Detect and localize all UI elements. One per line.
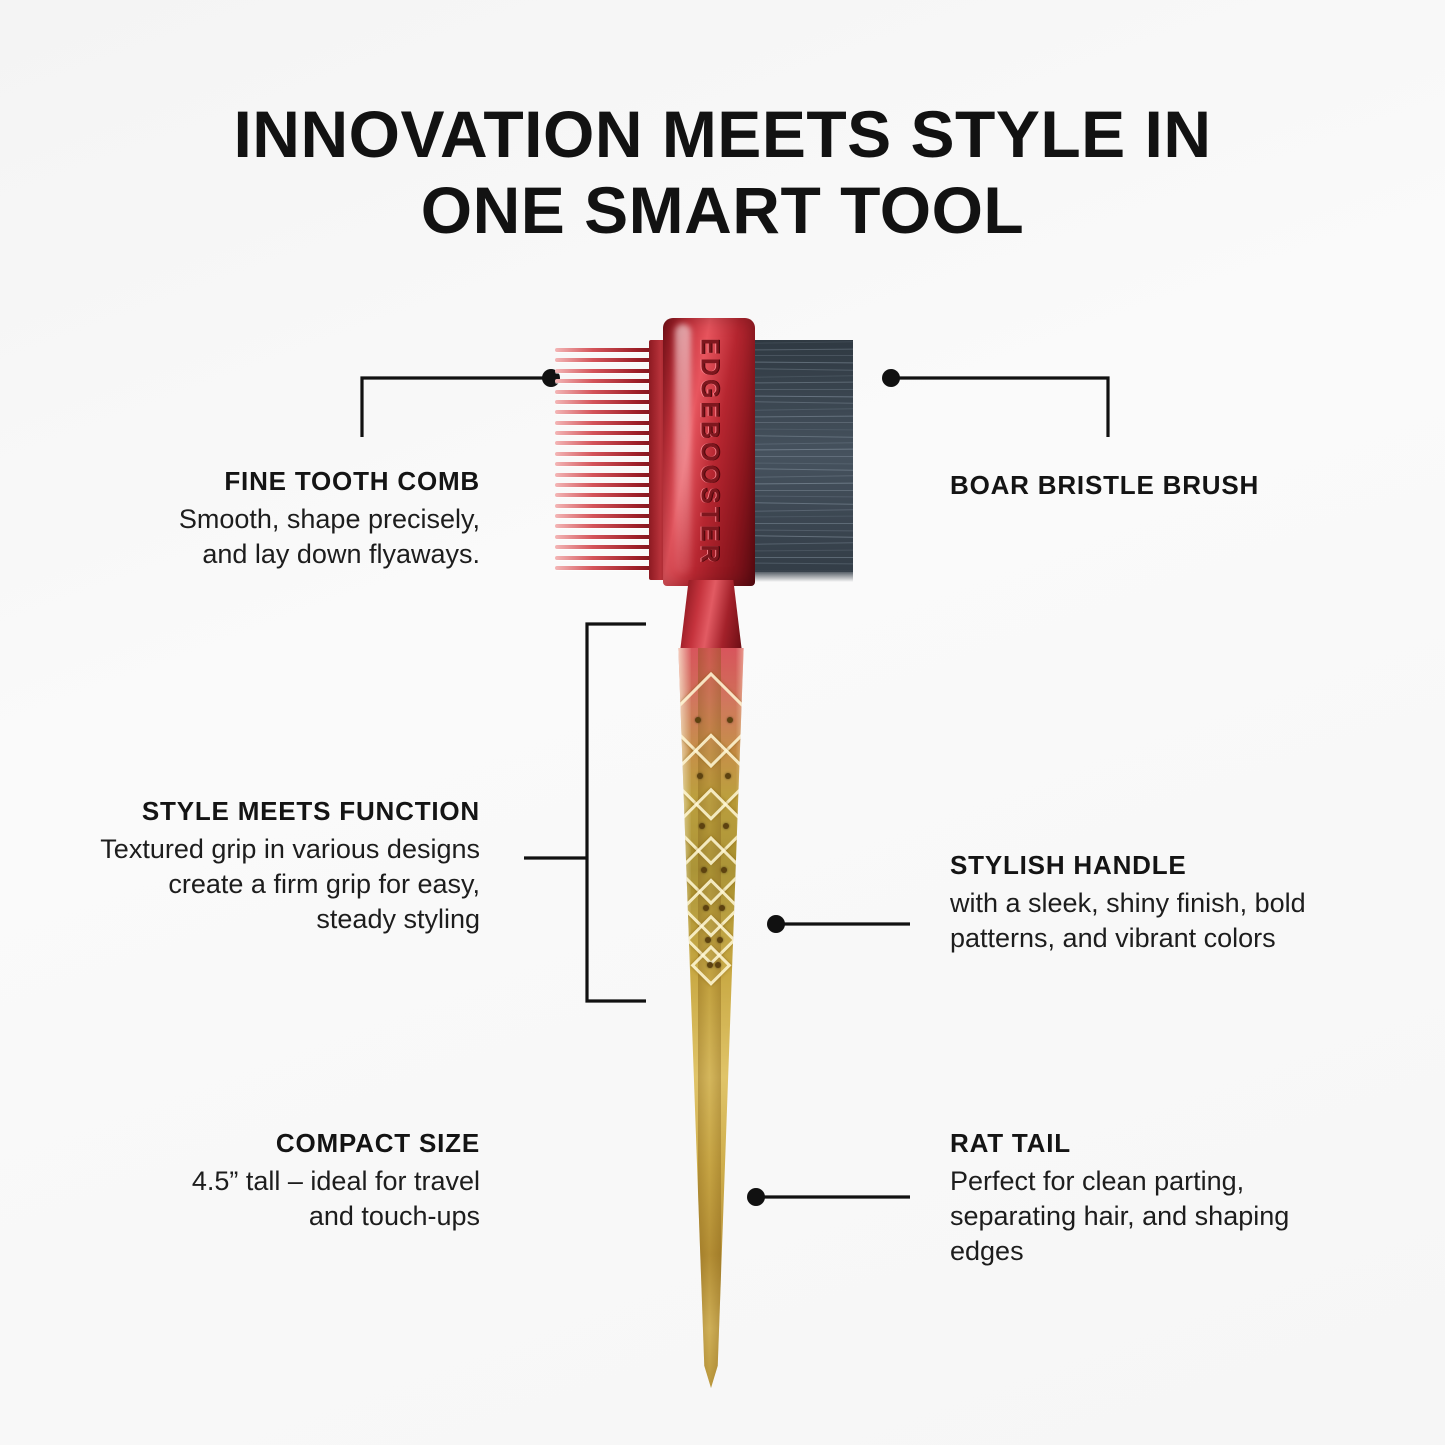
bristle-strand: [755, 449, 853, 451]
bristle-strand: [755, 549, 853, 551]
bristle-strand: [755, 375, 853, 378]
leader-boar-bristle-brush: [882, 369, 1108, 437]
bristle-strand: [755, 355, 853, 356]
bristle-strand: [755, 469, 853, 472]
bristle-strand: [755, 496, 853, 498]
comb-tooth: [555, 483, 663, 487]
bristle-strand: [755, 475, 853, 478]
handle-pin-hole: [697, 773, 703, 779]
comb-tooth: [555, 566, 663, 570]
handle-and-rat-tail: [663, 648, 759, 1388]
bristle-strand: [755, 563, 853, 565]
callout-rat-tail: RAT TAIL Perfect for clean parting, sepa…: [950, 1128, 1350, 1269]
bristle-strand: [755, 509, 853, 512]
callout-body-compact-size: 4.5” tall – ideal for travel and touch-u…: [170, 1164, 480, 1234]
comb-tooth: [555, 473, 663, 477]
callout-heading-style-meets-function: STYLE MEETS FUNCTION: [90, 796, 480, 826]
bristle-strand: [755, 482, 853, 484]
comb-tooth: [555, 410, 663, 414]
comb-tooth: [555, 452, 663, 456]
brand-logo-text: EDGEBOOSTER: [695, 338, 724, 565]
bristle-strand: [755, 368, 853, 371]
handle-pin-hole: [695, 717, 701, 723]
bristle-strand: [755, 415, 853, 417]
comb-tooth: [555, 556, 663, 560]
bristle-strand: [755, 516, 853, 518]
callout-body-stylish-handle: with a sleek, shiny finish, bold pattern…: [950, 886, 1350, 956]
product-image-edge-booster-brush: EDGEBOOSTER: [545, 318, 905, 1388]
bristle-strand: [755, 542, 853, 545]
comb-tooth: [555, 462, 663, 466]
bristle-strand: [755, 490, 853, 491]
bristle-strand: [755, 341, 853, 344]
brush-body-red: EDGEBOOSTER: [663, 318, 755, 586]
bristle-strand: [755, 348, 853, 350]
callout-body-style-meets-function: Textured grip in various designs create …: [90, 832, 480, 937]
bristle-strand: [755, 523, 853, 524]
comb-tooth: [555, 390, 663, 394]
comb-tooth: [555, 441, 663, 445]
callout-boar-bristle-brush: BOAR BRISTLE BRUSH: [950, 470, 1350, 506]
callout-stylish-handle: STYLISH HANDLE with a sleek, shiny finis…: [950, 850, 1350, 956]
bristle-strand: [755, 536, 853, 539]
bristle-strand: [755, 408, 853, 411]
callout-heading-fine-tooth-comb: FINE TOOTH COMB: [150, 466, 480, 496]
comb-tooth: [555, 421, 663, 425]
leader-fine-tooth-comb: [362, 369, 560, 437]
comb-tooth: [555, 431, 663, 435]
callout-heading-rat-tail: RAT TAIL: [950, 1128, 1350, 1158]
handle-pin-hole: [703, 905, 709, 911]
comb-tooth: [555, 524, 663, 528]
infographic-page: INNOVATION MEETS STYLE IN ONE SMART TOOL: [0, 0, 1445, 1445]
bristle-strand: [755, 362, 853, 364]
callout-heading-compact-size: COMPACT SIZE: [170, 1128, 480, 1158]
bristle-shadow: [755, 570, 853, 582]
comb-tooth: [555, 535, 663, 539]
bristle-strand: [755, 395, 853, 397]
comb-tooth: [555, 493, 663, 497]
bristle-strand: [755, 462, 853, 464]
bristle-strand: [755, 401, 853, 404]
bristle-strand: [755, 557, 853, 558]
handle-pin-hole: [705, 937, 711, 943]
callout-fine-tooth-comb: FINE TOOTH COMB Smooth, shape precisely,…: [150, 466, 480, 572]
bristle-strand: [755, 429, 853, 431]
handle-lattice-pattern: [663, 686, 759, 1346]
bristle-strand: [755, 435, 853, 438]
fine-tooth-comb-part: [555, 348, 663, 570]
title-line-2: ONE SMART TOOL: [0, 172, 1445, 248]
comb-tooth: [555, 348, 663, 352]
callout-heading-stylish-handle: STYLISH HANDLE: [950, 850, 1350, 880]
callout-body-fine-tooth-comb: Smooth, shape precisely, and lay down fl…: [150, 502, 480, 572]
bristle-strand: [755, 382, 853, 384]
brush-neck: [680, 580, 742, 652]
callout-body-rat-tail: Perfect for clean parting, separating ha…: [950, 1164, 1350, 1269]
bristle-strand: [755, 502, 853, 505]
comb-tooth: [555, 504, 663, 508]
callout-heading-boar-bristle-brush: BOAR BRISTLE BRUSH: [950, 470, 1350, 500]
comb-tooth: [555, 369, 663, 373]
comb-tooth: [555, 514, 663, 518]
bristle-strand: [755, 456, 853, 457]
callout-style-meets-function: STYLE MEETS FUNCTION Textured grip in va…: [90, 796, 480, 937]
bristle-strand: [755, 442, 853, 445]
comb-tooth: [555, 358, 663, 362]
page-title: INNOVATION MEETS STYLE IN ONE SMART TOOL: [0, 96, 1445, 248]
bristle-strand: [755, 389, 853, 390]
comb-tooth: [555, 545, 663, 549]
bristle-strand: [755, 422, 853, 423]
title-line-1: INNOVATION MEETS STYLE IN: [0, 96, 1445, 172]
comb-tooth: [555, 379, 663, 383]
callout-compact-size: COMPACT SIZE 4.5” tall – ideal for trave…: [170, 1128, 480, 1234]
bristle-strand: [755, 529, 853, 531]
boar-bristle-part: [755, 340, 853, 572]
comb-tooth: [555, 400, 663, 404]
